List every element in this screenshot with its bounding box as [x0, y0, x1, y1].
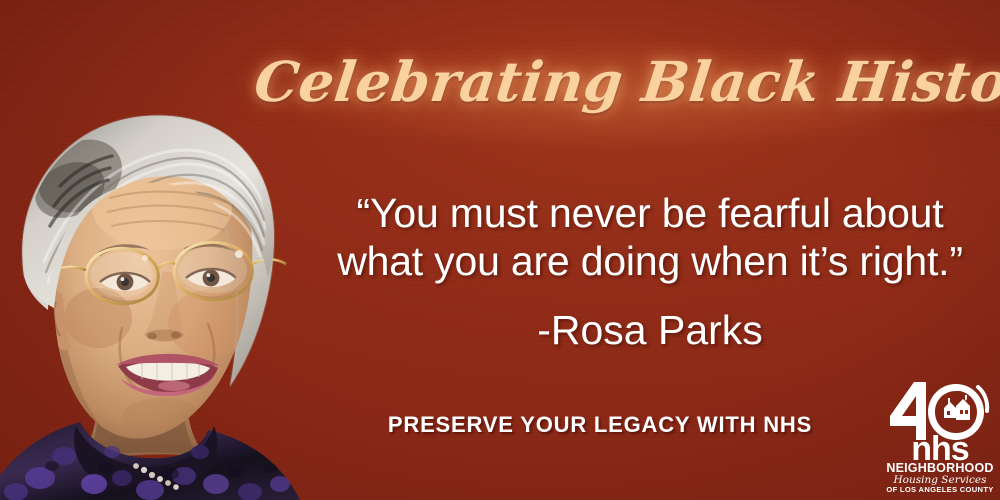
quote-line-2: what you are doing when it’s right.”	[320, 238, 980, 286]
black-history-month-banner: Celebrating Black History Month “You mus…	[0, 0, 1000, 500]
quote-text: “You must never be fearful about what yo…	[320, 190, 980, 286]
quote-line-1: “You must never be fearful about	[320, 190, 980, 238]
tagline: PRESERVE YOUR LEGACY WITH NHS	[320, 412, 880, 438]
nhs-logo[interactable]: nhs NEIGHBORHOOD Housing Services OF LOS…	[886, 374, 994, 496]
logo-line-1: NEIGHBORHOOD	[886, 461, 993, 475]
house-icon	[944, 395, 970, 420]
logo-line-3: OF LOS ANGELES COUNTY	[886, 485, 993, 494]
quote-attribution: -Rosa Parks	[320, 308, 980, 353]
page-title: Celebrating Black History Month	[252, 54, 979, 109]
